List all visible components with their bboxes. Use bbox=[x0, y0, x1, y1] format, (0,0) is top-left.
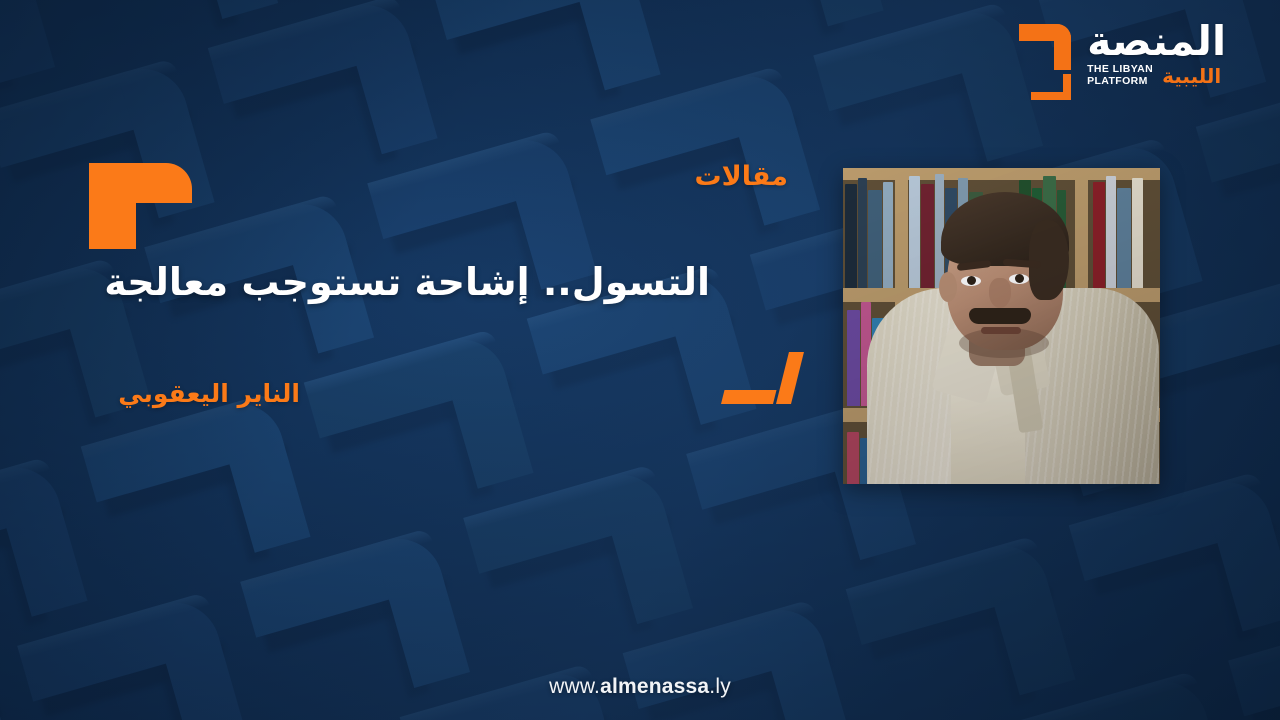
logo-tick-icon bbox=[1031, 74, 1071, 100]
article-category[interactable]: مقالات bbox=[694, 163, 788, 190]
article-author[interactable]: الناير اليعقوبي bbox=[118, 381, 300, 406]
logo-arabic-sub: الليبية bbox=[1162, 66, 1221, 86]
url-name: almenassa bbox=[600, 675, 709, 698]
logo-latin-text: THE LIBYAN PLATFORM bbox=[1087, 64, 1153, 88]
logo-hook-shape bbox=[1019, 24, 1071, 70]
url-prefix: www. bbox=[549, 675, 600, 698]
logo-tick-vertical bbox=[1063, 74, 1071, 100]
site-logo[interactable]: المنصة الليبية THE LIBYAN PLATFORM bbox=[1013, 22, 1226, 102]
logo-latin-line2: PLATFORM bbox=[1087, 76, 1153, 88]
logo-wordmark: المنصة الليبية THE LIBYAN PLATFORM bbox=[1087, 22, 1226, 88]
article-headline: التسول.. إشاحة تستوجب معالجة bbox=[50, 259, 710, 307]
url-tld: .ly bbox=[709, 675, 731, 698]
decorative-tick-icon bbox=[721, 352, 791, 404]
author-portrait-photo bbox=[843, 168, 1160, 484]
footer-website-url[interactable]: www.almenassa.ly bbox=[0, 675, 1280, 699]
logo-arabic-main: المنصة bbox=[1087, 22, 1226, 61]
logo-hook-mark-icon bbox=[1013, 22, 1077, 102]
portrait-canvas bbox=[843, 168, 1160, 484]
decorative-hook-icon bbox=[89, 163, 192, 249]
portrait-tone-overlay bbox=[843, 168, 1160, 484]
logo-hook-stem bbox=[1054, 24, 1071, 70]
decorative-hook-stem bbox=[89, 163, 136, 249]
decorative-tick-horizontal bbox=[721, 390, 776, 404]
logo-sub-row: الليبية THE LIBYAN PLATFORM bbox=[1087, 64, 1221, 88]
article-card: المنصة الليبية THE LIBYAN PLATFORM bbox=[0, 0, 1280, 720]
